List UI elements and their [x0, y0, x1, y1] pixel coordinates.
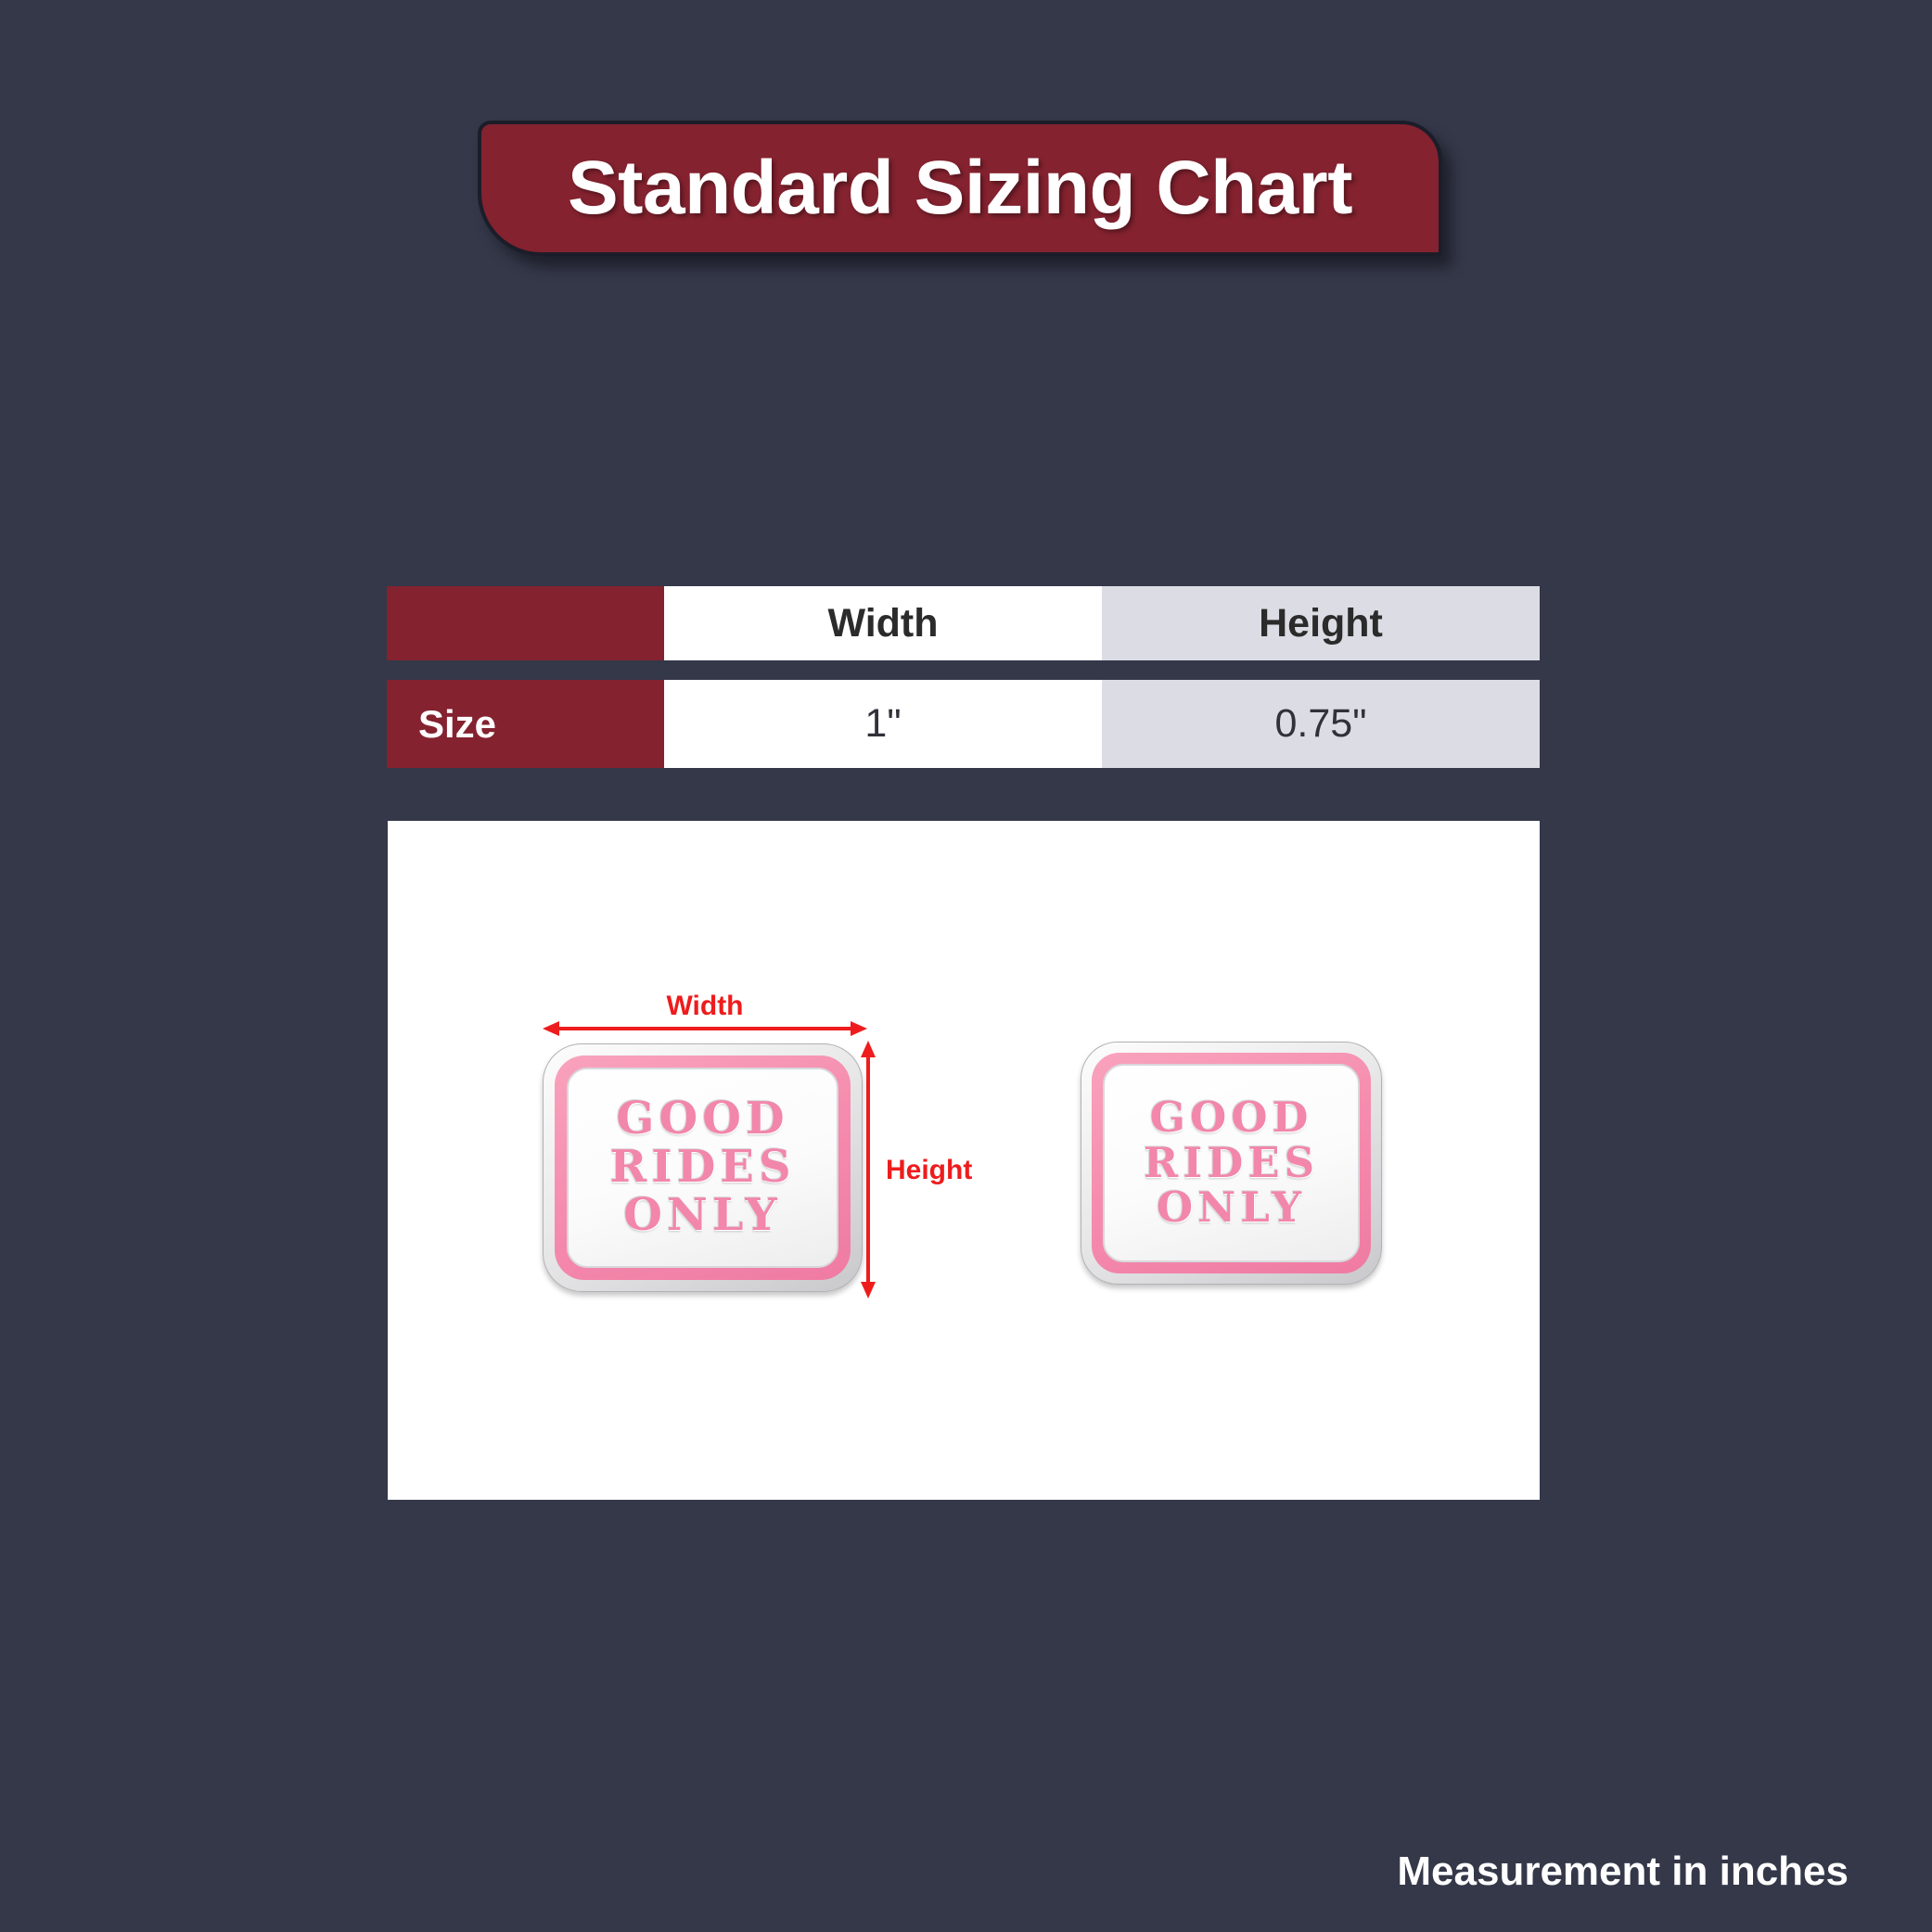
- value-height: 0.75": [1275, 701, 1367, 747]
- pin-face: GOOD RIDES ONLY: [1103, 1064, 1360, 1262]
- product-pin-small: GOOD RIDES ONLY: [1081, 1042, 1382, 1285]
- pin-enamel-border: GOOD RIDES ONLY: [1092, 1053, 1371, 1273]
- pin-text-line-3: ONLY: [1157, 1186, 1306, 1230]
- pin-enamel-border: GOOD RIDES ONLY: [555, 1056, 851, 1280]
- pin-text-line-2: RIDES: [609, 1145, 795, 1191]
- pin-face: GOOD RIDES ONLY: [567, 1068, 838, 1268]
- row-value-height-cell: 0.75": [1102, 680, 1540, 768]
- width-dimension-arrow-icon: [543, 1018, 867, 1039]
- product-pin-large: GOOD RIDES ONLY: [543, 1043, 863, 1292]
- measurement-unit-caption: Measurement in inches: [1397, 1849, 1849, 1895]
- table-row-divider: [387, 660, 1540, 680]
- row-value-width-cell: 1": [664, 680, 1102, 768]
- table-header-corner-cell: [387, 586, 664, 660]
- value-width: 1": [864, 701, 901, 747]
- pin-text-line-1: GOOD: [1150, 1096, 1313, 1140]
- width-dimension-label: Width: [543, 991, 867, 1022]
- table-header-row: Width Height: [387, 586, 1540, 660]
- row-label-size: Size: [418, 702, 496, 747]
- pin-text-line-2: RIDES: [1144, 1142, 1319, 1185]
- size-table: Width Height Size 1" 0.75": [387, 586, 1540, 768]
- page-title: Standard Sizing Chart: [568, 150, 1352, 226]
- row-label-cell: Size: [387, 680, 664, 768]
- column-header-height: Height: [1259, 601, 1383, 646]
- height-dimension-label: Height: [886, 1155, 972, 1186]
- pin-text-line-3: ONLY: [623, 1193, 782, 1239]
- title-banner: Standard Sizing Chart: [478, 121, 1442, 256]
- pin-text-line-1: GOOD: [616, 1096, 788, 1143]
- column-header-width: Width: [827, 601, 938, 646]
- table-header-height-cell: Height: [1102, 586, 1540, 660]
- table-header-width-cell: Width: [664, 586, 1102, 660]
- table-row: Size 1" 0.75": [387, 680, 1540, 768]
